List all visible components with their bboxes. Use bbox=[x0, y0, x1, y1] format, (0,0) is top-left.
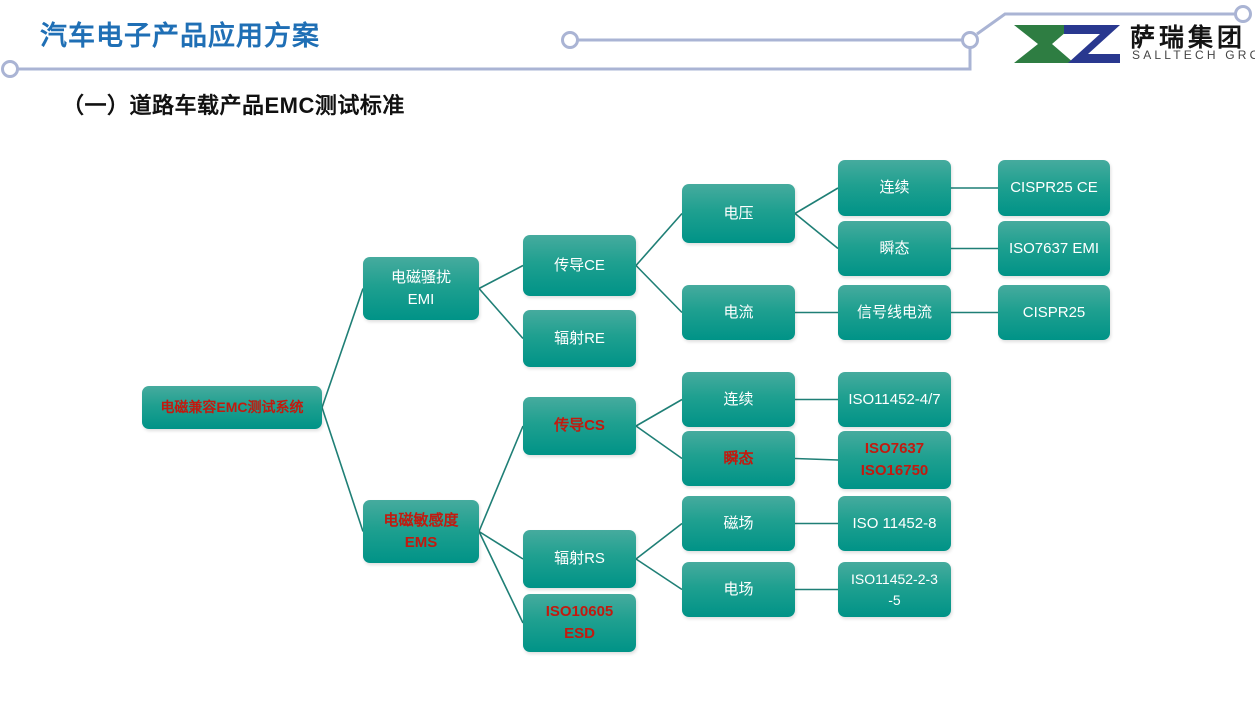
tree-node-label: CISPR25 bbox=[1002, 302, 1106, 324]
tree-node-label: ISO7637 ISO16750 bbox=[842, 438, 947, 482]
tree-edge-emi-to-re bbox=[479, 289, 523, 339]
tree-node-label: ISO10605 ESD bbox=[527, 601, 632, 645]
tree-node-label: 电磁骚扰 EMI bbox=[367, 267, 475, 311]
tree-node-label: 瞬态 bbox=[842, 238, 947, 260]
tree-node-label: 磁场 bbox=[686, 513, 791, 535]
tree-node-label: ISO11452-2-3 -5 bbox=[842, 569, 947, 610]
tree-edge-root-to-ems bbox=[322, 408, 363, 532]
tree-node-label: 辐射RE bbox=[527, 328, 632, 350]
tree-node-voltage: 电压 bbox=[682, 184, 795, 243]
tree-node-label: 电压 bbox=[686, 203, 791, 225]
tree-node-label: 电磁敏感度 EMS bbox=[367, 510, 475, 554]
tree-node-label: ISO 11452-8 bbox=[842, 513, 947, 535]
tree-node-iso114524: ISO11452-4/7 bbox=[838, 372, 951, 427]
tree-node-cont: 连续 bbox=[838, 160, 951, 216]
tree-node-cispr25: CISPR25 bbox=[998, 285, 1110, 340]
tree-node-cs-trans: 瞬态 bbox=[682, 431, 795, 486]
tree-edge-cs-to-cs-trans bbox=[636, 426, 682, 459]
tree-node-iso7637e: ISO7637 EMI bbox=[998, 221, 1110, 276]
tree-node-iso7637b: ISO7637 ISO16750 bbox=[838, 431, 951, 489]
tree-node-cispr25ce: CISPR25 CE bbox=[998, 160, 1110, 216]
emc-test-standards-tree: 电磁兼容EMC测试系统电磁骚扰 EMI电磁敏感度 EMS传导CE辐射RE传导CS… bbox=[0, 0, 1255, 705]
tree-node-label: 连续 bbox=[842, 177, 947, 199]
tree-node-label: 信号线电流 bbox=[842, 302, 947, 324]
tree-edge-cs-to-cs-cont bbox=[636, 400, 682, 427]
tree-node-sigline: 信号线电流 bbox=[838, 285, 951, 340]
tree-node-trans: 瞬态 bbox=[838, 221, 951, 276]
tree-edge-cs-trans-to-iso7637b bbox=[795, 459, 838, 461]
tree-node-iso114528: ISO 11452-8 bbox=[838, 496, 951, 551]
tree-edge-root-to-emi bbox=[322, 289, 363, 408]
tree-node-re: 辐射RE bbox=[523, 310, 636, 367]
tree-edge-rs-to-mag bbox=[636, 524, 682, 560]
tree-edge-ems-to-cs bbox=[479, 426, 523, 532]
tree-node-label: 辐射RS bbox=[527, 548, 632, 570]
tree-node-current: 电流 bbox=[682, 285, 795, 340]
tree-edge-voltage-to-trans bbox=[795, 214, 838, 249]
tree-edge-voltage-to-cont bbox=[795, 188, 838, 214]
tree-node-label: 传导CS bbox=[527, 415, 632, 437]
tree-edge-ce-to-current bbox=[636, 266, 682, 313]
tree-node-elec: 电场 bbox=[682, 562, 795, 617]
tree-node-label: 电场 bbox=[686, 579, 791, 601]
tree-node-label: 电流 bbox=[686, 302, 791, 324]
tree-node-emi: 电磁骚扰 EMI bbox=[363, 257, 479, 320]
tree-node-mag: 磁场 bbox=[682, 496, 795, 551]
tree-node-label: 连续 bbox=[686, 389, 791, 411]
tree-node-rs: 辐射RS bbox=[523, 530, 636, 588]
tree-node-label: CISPR25 CE bbox=[1002, 177, 1106, 199]
tree-node-label: 电磁兼容EMC测试系统 bbox=[146, 397, 318, 417]
tree-node-label: 瞬态 bbox=[686, 448, 791, 470]
tree-node-cs-cont: 连续 bbox=[682, 372, 795, 427]
tree-edge-emi-to-ce bbox=[479, 266, 523, 289]
tree-node-iso114522: ISO11452-2-3 -5 bbox=[838, 562, 951, 617]
tree-edge-rs-to-elec bbox=[636, 559, 682, 590]
tree-node-ems: 电磁敏感度 EMS bbox=[363, 500, 479, 563]
tree-node-label: 传导CE bbox=[527, 255, 632, 277]
tree-edge-ce-to-voltage bbox=[636, 214, 682, 266]
tree-node-label: ISO7637 EMI bbox=[1002, 238, 1106, 260]
tree-node-esd: ISO10605 ESD bbox=[523, 594, 636, 652]
tree-node-root: 电磁兼容EMC测试系统 bbox=[142, 386, 322, 429]
tree-node-ce: 传导CE bbox=[523, 235, 636, 296]
tree-node-label: ISO11452-4/7 bbox=[842, 389, 947, 411]
tree-node-cs: 传导CS bbox=[523, 397, 636, 455]
